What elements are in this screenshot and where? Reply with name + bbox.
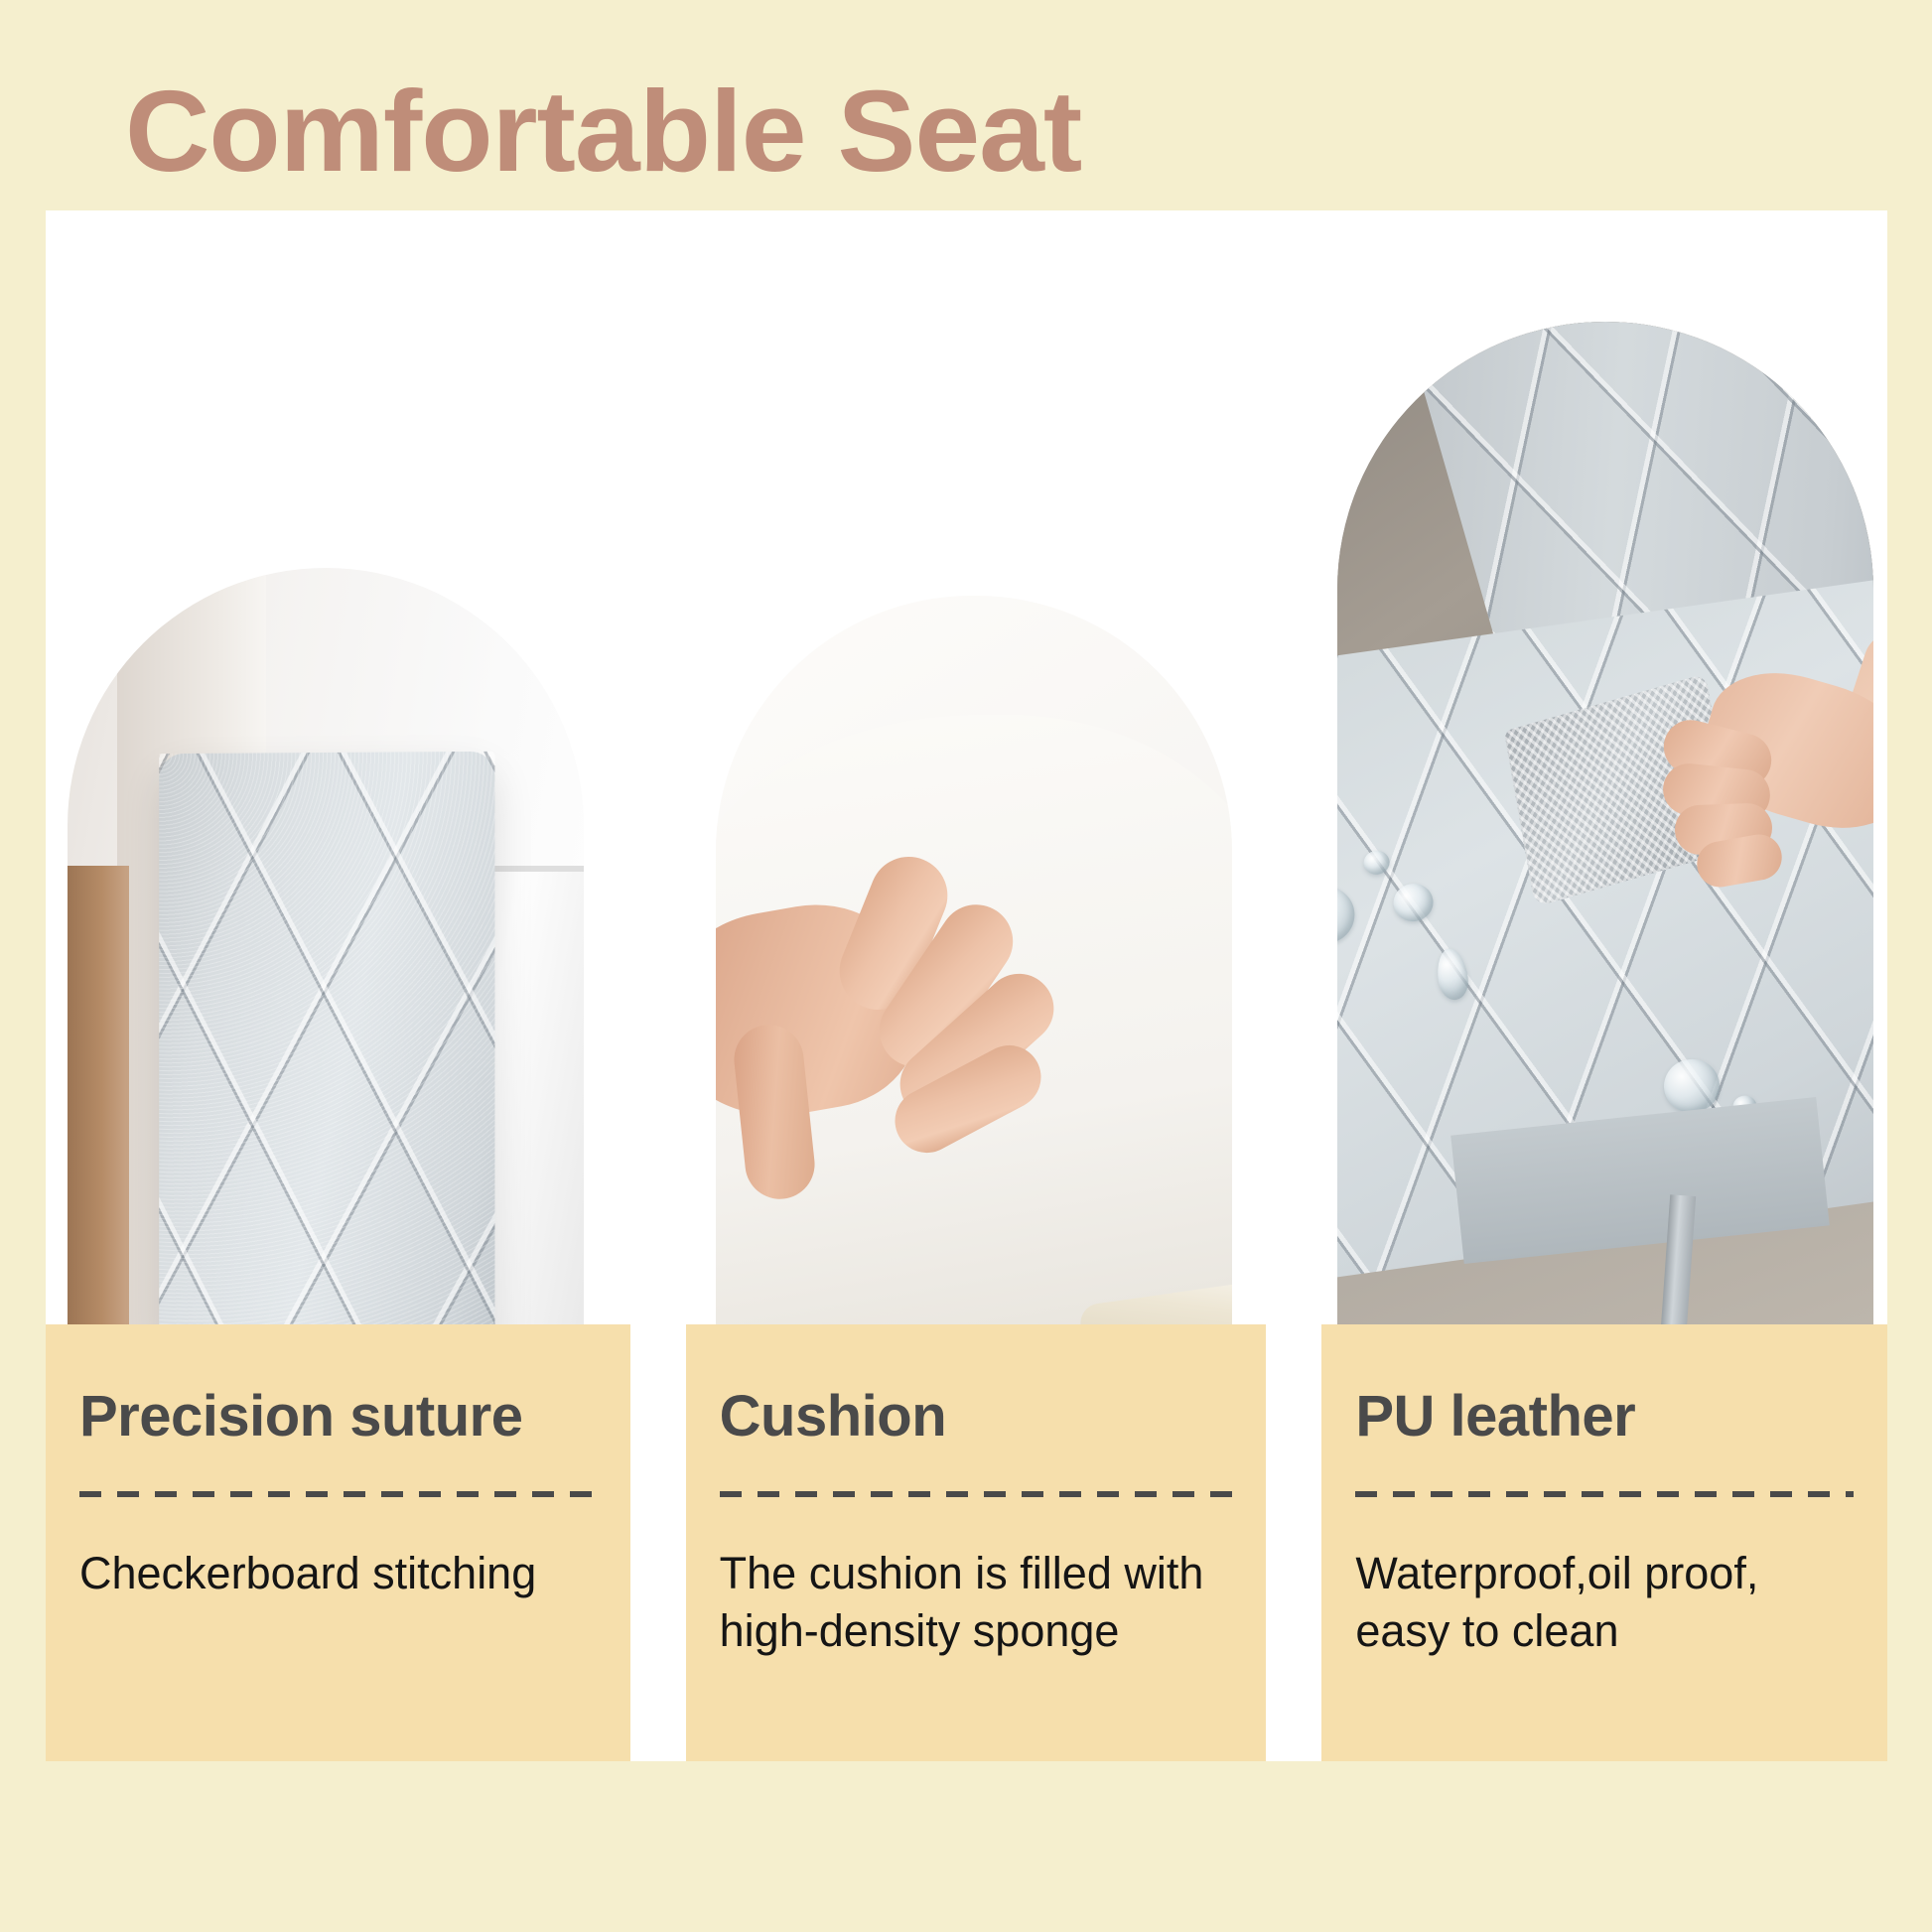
feature-body: Waterproof,oil proof, easy to clean xyxy=(1355,1545,1854,1660)
dashed-divider xyxy=(1355,1491,1854,1497)
wood-frame xyxy=(68,866,129,1324)
feature-image-precision-suture xyxy=(46,210,630,1324)
feature-column-cushion[interactable]: Cushion The cushion is filled with high-… xyxy=(686,210,1267,1761)
dashed-divider xyxy=(720,1491,1233,1497)
wiping-hand xyxy=(1645,671,1873,899)
dashed-divider xyxy=(79,1491,597,1497)
feature-body: Checkerboard stitching xyxy=(79,1545,597,1602)
wiping-leather-seat-photo xyxy=(1337,322,1873,1324)
leather-grain-texture xyxy=(159,752,494,1324)
feature-caption-cushion: Cushion The cushion is filled with high-… xyxy=(686,1324,1267,1761)
feature-image-cushion xyxy=(686,210,1267,1324)
chair-back-cushion xyxy=(159,752,494,1324)
feature-caption-pu-leather: PU leather Waterproof,oil proof, easy to… xyxy=(1321,1324,1887,1761)
feature-image-pu-leather xyxy=(1321,210,1887,1324)
feature-column-precision-suture[interactable]: Precision suture Checkerboard stitching xyxy=(46,210,630,1761)
pressing-hand xyxy=(716,844,1123,1241)
page-title: Comfortable Seat xyxy=(125,62,1847,201)
hand-on-foam-photo xyxy=(716,596,1232,1324)
feature-title: Cushion xyxy=(720,1384,1233,1449)
foam-edge xyxy=(1077,1276,1231,1324)
feature-column-pu-leather[interactable]: PU leather Waterproof,oil proof, easy to… xyxy=(1321,210,1887,1761)
feature-caption-precision-suture: Precision suture Checkerboard stitching xyxy=(46,1324,630,1761)
quilted-chair-back-photo xyxy=(68,568,584,1324)
feature-title: PU leather xyxy=(1355,1384,1854,1449)
feature-body: The cushion is filled with high-density … xyxy=(720,1545,1233,1660)
feature-title: Precision suture xyxy=(79,1384,597,1449)
feature-columns: Precision suture Checkerboard stitching xyxy=(46,210,1887,1761)
